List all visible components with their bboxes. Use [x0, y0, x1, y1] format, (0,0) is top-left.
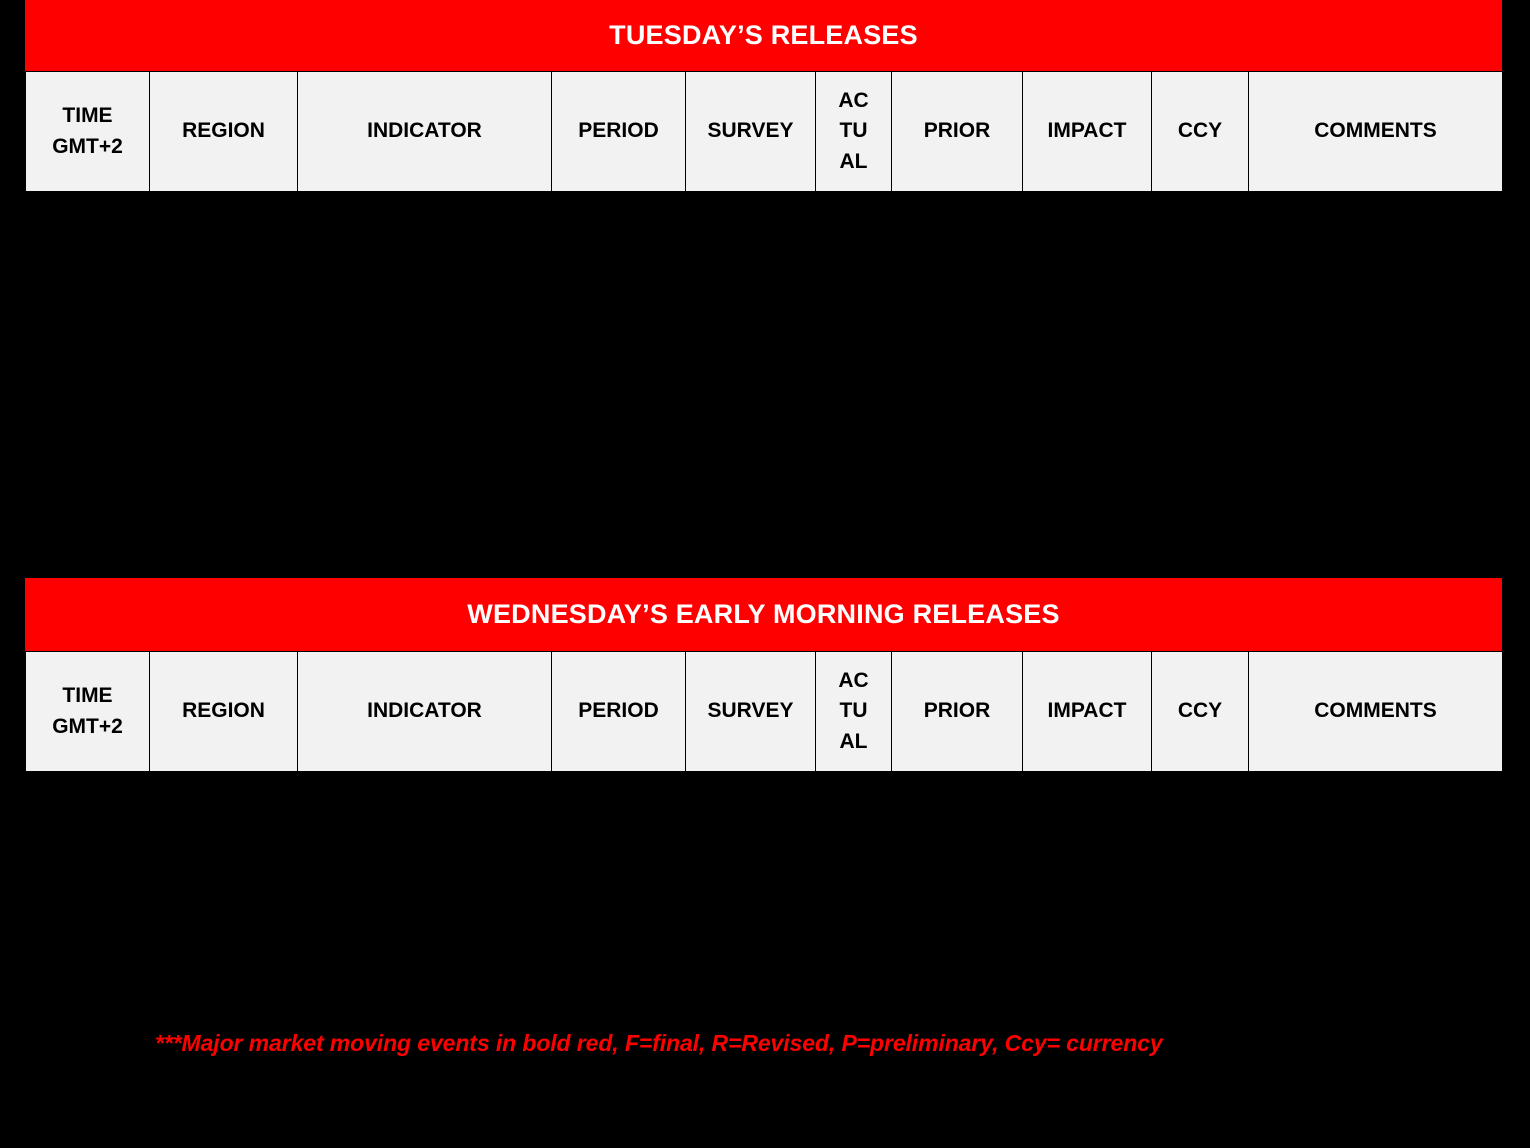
column-header-time[interactable]: TIME GMT+2: [26, 652, 150, 772]
column-header-comments[interactable]: COMMENTS: [1249, 72, 1503, 192]
column-header-region[interactable]: REGION: [150, 652, 298, 772]
actual-label-line1: AC: [838, 89, 868, 112]
column-header-period[interactable]: PERIOD: [552, 652, 686, 772]
actual-label-line2: TU: [840, 119, 868, 142]
time-label-line1: TIME: [62, 684, 112, 707]
actual-label-line1: AC: [838, 669, 868, 692]
column-header-period[interactable]: PERIOD: [552, 72, 686, 192]
releases-table-tuesday: TUESDAY’S RELEASES TIME GMT+2 REGION IND…: [25, 0, 1502, 192]
column-header-prior[interactable]: PRIOR: [892, 652, 1023, 772]
banner-tuesday: TUESDAY’S RELEASES: [25, 0, 1502, 71]
column-header-indicator[interactable]: INDICATOR: [298, 652, 552, 772]
column-header-impact[interactable]: IMPACT: [1023, 72, 1152, 192]
column-header-survey[interactable]: SURVEY: [686, 72, 816, 192]
time-label-line2: GMT+2: [52, 715, 123, 738]
actual-label-line2: TU: [840, 699, 868, 722]
table-header-row: TIME GMT+2 REGION INDICATOR PERIOD SURVE…: [26, 652, 1503, 772]
column-header-indicator[interactable]: INDICATOR: [298, 72, 552, 192]
column-header-time[interactable]: TIME GMT+2: [26, 72, 150, 192]
banner-title-tuesday: TUESDAY’S RELEASES: [609, 20, 918, 51]
time-label-line2: GMT+2: [52, 135, 123, 158]
column-header-impact[interactable]: IMPACT: [1023, 652, 1152, 772]
table-grid-wednesday: TIME GMT+2 REGION INDICATOR PERIOD SURVE…: [25, 651, 1503, 772]
actual-label-line3: AL: [840, 730, 868, 753]
banner-wednesday: WEDNESDAY’S EARLY MORNING RELEASES: [25, 578, 1502, 651]
column-header-survey[interactable]: SURVEY: [686, 652, 816, 772]
releases-table-wednesday: WEDNESDAY’S EARLY MORNING RELEASES TIME …: [25, 578, 1502, 772]
column-header-region[interactable]: REGION: [150, 72, 298, 192]
time-label-line1: TIME: [62, 104, 112, 127]
column-header-actual[interactable]: AC TU AL: [816, 72, 892, 192]
column-header-prior[interactable]: PRIOR: [892, 72, 1023, 192]
table-header-row: TIME GMT+2 REGION INDICATOR PERIOD SURVE…: [26, 72, 1503, 192]
legend-footnote: ***Major market moving events in bold re…: [155, 1030, 1455, 1057]
actual-label-line3: AL: [840, 150, 868, 173]
column-header-ccy[interactable]: CCY: [1152, 72, 1249, 192]
column-header-comments[interactable]: COMMENTS: [1249, 652, 1503, 772]
table-grid-tuesday: TIME GMT+2 REGION INDICATOR PERIOD SURVE…: [25, 71, 1503, 192]
column-header-actual[interactable]: AC TU AL: [816, 652, 892, 772]
banner-title-wednesday: WEDNESDAY’S EARLY MORNING RELEASES: [467, 599, 1059, 630]
column-header-ccy[interactable]: CCY: [1152, 652, 1249, 772]
